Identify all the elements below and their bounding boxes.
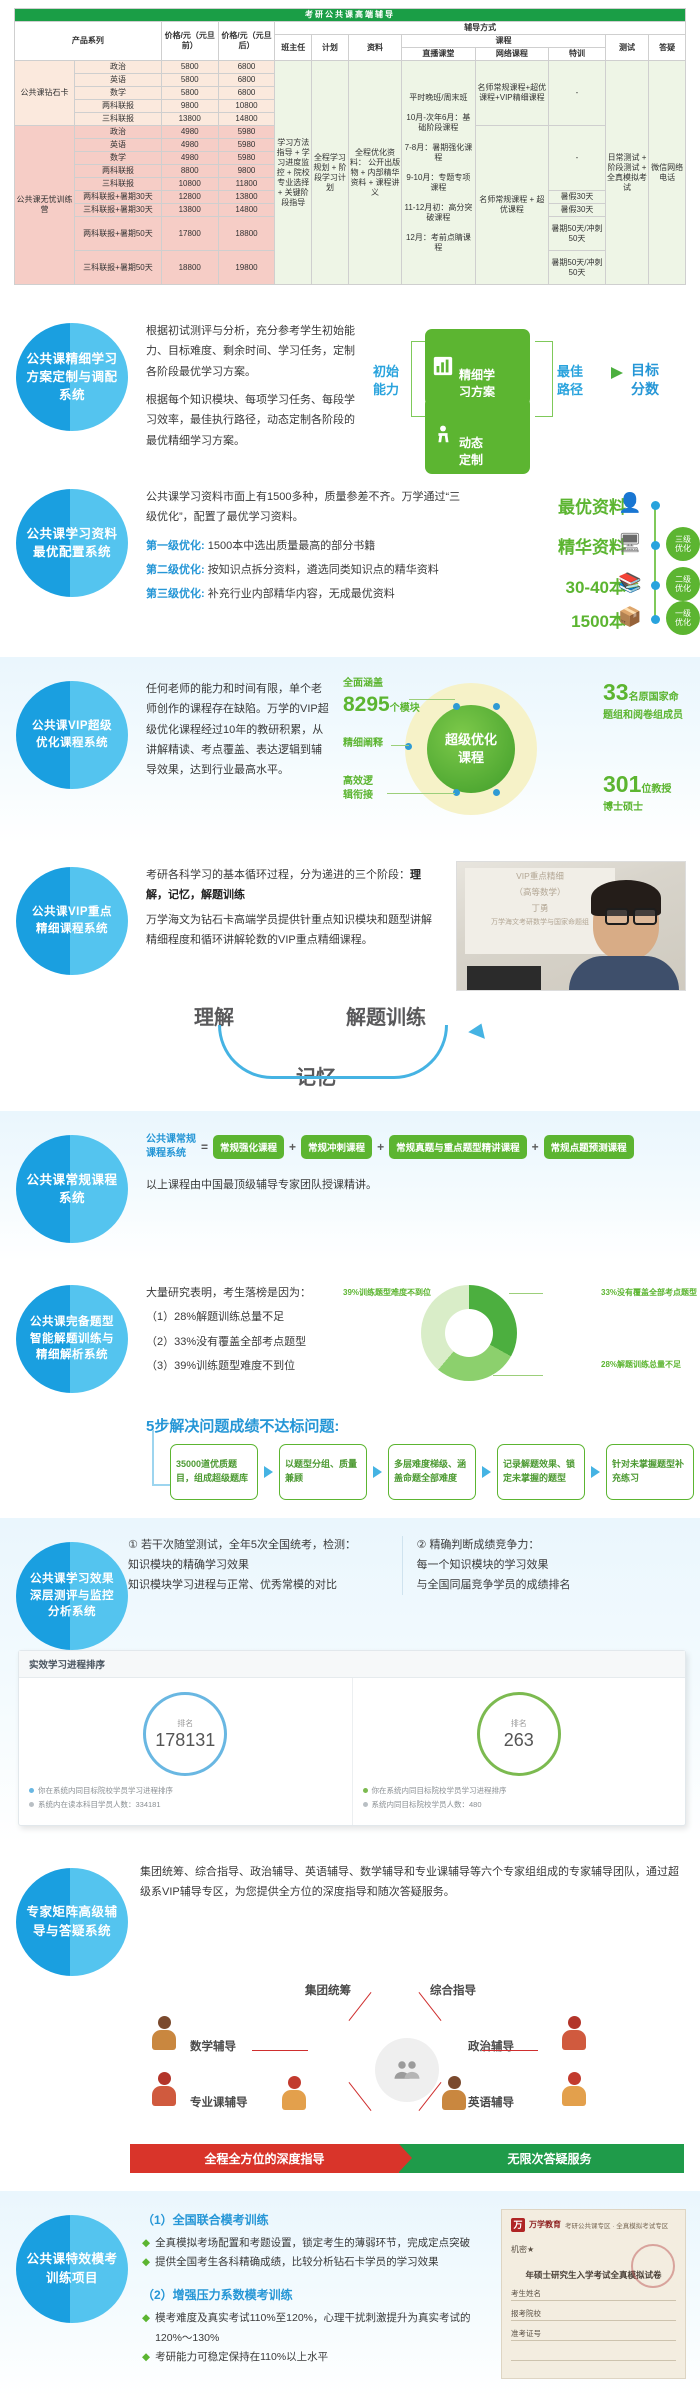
chart-icon (432, 339, 454, 361)
paper-brand: 万学教育 (529, 2219, 561, 2230)
section-badge-vip-super: 公共课VIP超级优化课程系统 (16, 681, 128, 789)
cell-item: 两科联报+暑期50天 (75, 217, 162, 251)
th-teacher: 班主任 (275, 35, 312, 61)
section-badge-mock-exam: 公共课特效模考训练项目 (16, 2215, 128, 2323)
cell-before: 4980 (161, 152, 218, 165)
th-test: 测试 (605, 35, 648, 61)
ring-examiner-unit: 名原国家命 (629, 692, 679, 703)
level-badge-1: 一级 优化 (666, 601, 700, 635)
team-label-group: 集团统筹 (305, 1982, 351, 1998)
cell-test: 日常测试 + 阶段测试 + 全真模拟考试 (605, 61, 648, 285)
cell-after: 5980 (218, 126, 275, 139)
cell-before: 13800 (161, 204, 218, 217)
bullet-icon-1: ◆ (142, 2234, 150, 2253)
mock-heading-2: （2）增强压力系数模考训练 (142, 2286, 491, 2303)
paper-field-school: 报考院校 (511, 2308, 676, 2321)
cell-after: 5980 (218, 139, 275, 152)
section-vip-super: 公共课VIP超级优化课程系统 任何老师的能力和时间有限，单个老师创作的课程存在缺… (0, 657, 700, 843)
vip-focus-paragraph-2: 万学海文为钻石卡高端学员提供针重点知识模块和题型讲解精细程度和循环讲解轮数的VI… (146, 910, 442, 951)
ring-modules-count: 8295 (343, 693, 390, 716)
cell-item: 三科联报+暑期30天 (75, 204, 162, 217)
cell-item: 两科联报+暑期30天 (75, 191, 162, 204)
cell-after: 10800 (218, 100, 275, 113)
materials-level-diagram: 最优资料 👤 精华资料 🖥 三级 优化 30-40本 📚 二级 优化 1500本… (485, 489, 700, 639)
cell-before: 17800 (161, 217, 218, 251)
th-material: 资料 (348, 35, 401, 61)
learning-cycle-diagram: 理解 解题训练 记忆 (160, 1001, 540, 1093)
flow-box2-label: 动态 定制 (459, 436, 483, 466)
dashboard-right-legend-2: 系统内同目标院校学员人数：480 (372, 1800, 482, 1809)
cell-before: 5800 (161, 87, 218, 100)
team-avatar-6 (560, 2072, 588, 2106)
group-a-name: 公共课钻石卡 (15, 61, 75, 126)
cell-material: 全程优化资料： 公开出版物 + 内部精华资料 + 课程讲义 (348, 61, 401, 285)
gauge-left-value: 178131 (155, 1730, 215, 1751)
level-dot-3 (651, 581, 660, 590)
effect-columns: ① 若干次随堂测试，全年5次全国统考，检测： 知识模块的精确学习效果 知识模块学… (128, 1536, 690, 1595)
regular-course-formula: 公共课常规 课程系统 = 常规强化课程 + 常规冲刺课程 + 常规真题与重点题型… (146, 1133, 690, 1161)
effect-col2-line3: 与全国同届竞争学员的成绩排名 (417, 1576, 679, 1596)
cell-special-30b: 暑假30天 (549, 204, 606, 217)
formula-lead: 公共课常规 课程系统 (146, 1133, 196, 1161)
mock-exam-paper: 万 万学教育 考研公共课专区 · 全真模拟考试专区 机密★ 年硕士研究生入学考试… (501, 2209, 686, 2379)
mock-bullet-4: 考研能力可稳定保持在110%以上水平 (155, 2348, 328, 2367)
effect-col1-line2: 知识模块的精确学习效果 (128, 1556, 390, 1576)
ring-modules-unit: 个模块 (390, 703, 420, 714)
legend-dot-gray-1 (29, 1802, 34, 1807)
training-intro: 大量研究表明，考生落榜是因为： (146, 1283, 329, 1303)
ring-center-label: 超级优化 课程 (427, 705, 515, 793)
cell-special-a: - (549, 61, 606, 126)
team-label-math: 数学辅导 (190, 2038, 236, 2054)
team-center-icon (375, 2038, 439, 2102)
dashboard-right-panel: 排名 263 你在系统内同目标院校学员学习进程排序 系统内同目标院校学员人数：4… (352, 1678, 686, 1825)
ring-examiner-count: 33 (603, 679, 629, 705)
cell-item: 英语 (75, 74, 162, 87)
photo-glasses-right (633, 908, 657, 925)
th-plan: 计划 (312, 35, 349, 61)
team-avatar-4 (440, 2076, 468, 2110)
photo-glasses-left (605, 908, 629, 925)
cell-after: 14800 (218, 204, 275, 217)
effect-col2-line1: 精确判断成绩竞争力： (429, 1539, 539, 1551)
steps-flow: 35000道优质题目，组成超级题库 以题型分组、质量兼顾 多层难度梯级、涵盖命题… (146, 1444, 700, 1500)
gauge-school-rank: 排名 263 (477, 1692, 561, 1776)
failure-reasons-donut-chart: 39%训练题型难度不到位 33%没有覆盖全部考点题型 28%解题训练总量不足 (343, 1279, 593, 1409)
gauge-right-value: 263 (504, 1730, 534, 1751)
section-vip-focus: 公共课VIP重点精细课程系统 考研各科学习的基本循环过程，分为递进的三个阶段：理… (0, 843, 700, 1111)
step-arrow-icon-1 (264, 1466, 273, 1478)
dashboard-left-legend-1: 你在系统内同目标院校学员学习进程排序 (38, 1786, 173, 1795)
mock-bullet-3: 模考难度及真实考试110%至120%，心理干扰刺激提升为真实考试的120%～13… (155, 2309, 491, 2348)
cell-special-50b: 暑期50天/冲刺50天 (549, 251, 606, 285)
gauge-left-label: 排名 (177, 1718, 193, 1729)
expert-team-diagram: 集团统筹 综合指导 数学辅导 政治辅导 专业课辅导 英语辅导 (130, 1976, 684, 2136)
step-3: 多层难度梯级、涵盖命题全部难度 (388, 1444, 476, 1500)
cell-item: 英语 (75, 139, 162, 152)
price-table-section: 考研公共课高端辅导 产品系列 价格/元（元旦前） 价格/元（元旦后） 辅导方式 … (0, 0, 700, 299)
th-price-before: 价格/元（元旦前） (161, 22, 218, 61)
table-row: 公共课钻石卡 政治 5800 6800 学习方法指导 + 学习进度监控 + 院校… (15, 61, 686, 74)
vip-focus-paragraph-1: 考研各科学习的基本循环过程，分为递进的三个阶段： (146, 869, 410, 881)
level-badge-2: 二级 优化 (666, 567, 700, 601)
gauge-national-rank: 排名 178131 (143, 1692, 227, 1776)
cell-item: 三科联报+暑期50天 (75, 251, 162, 285)
effect-col1-line1: 若干次随堂测试，全年5次全国统考，检测： (141, 1539, 356, 1551)
course-chip-1[interactable]: 常规强化课程 (213, 1135, 284, 1159)
steps-bracket (152, 1430, 170, 1486)
level-spine (654, 503, 656, 621)
flow-box1-label: 精细学 习方案 (459, 368, 495, 398)
level2-text: 按知识点拆分资料，遴选同类知识点的精华资料 (208, 564, 439, 576)
table-title: 考研公共课高端辅导 (15, 9, 686, 22)
training-reason-1: （1）28%解题训练总量不足 (146, 1307, 329, 1327)
level-text-1: 最优资料 (558, 493, 626, 518)
level-badge-3: 三级 优化 (666, 527, 700, 561)
course-chip-3[interactable]: 常规真题与重点题型精讲课程 (389, 1135, 527, 1159)
materials-paragraph-1: 公共课学习资料市面上有1500多种，质量参差不齐。万学通过“三级优化”，配置了最… (146, 487, 471, 528)
ring-label-logic: 高效逻 辑衔接 (343, 775, 373, 802)
course-chip-2[interactable]: 常规冲刺课程 (301, 1135, 372, 1159)
cell-before: 13800 (161, 113, 218, 126)
section-badge-expert-matrix: 专家矩阵高级辅导与答疑系统 (16, 1868, 128, 1976)
paper-field-ticket: 准考证号 (511, 2328, 676, 2341)
th-price-after: 价格/元（元旦后） (218, 22, 275, 61)
effect-col1-line3: 知识模块学习进程与正常、优秀常模的对比 (128, 1576, 390, 1596)
flow-mid-label: 最佳 路径 (557, 363, 583, 398)
monitor-icon: 🖥 (618, 531, 642, 555)
th-tutoring-method: 辅导方式 (275, 22, 686, 35)
cell-live: 平时晚班/周末班 10月-次年6月：基础阶段课程 7-8月：暑期强化课程 9-1… (402, 61, 475, 285)
ring-professor-count: 301 (603, 771, 641, 797)
paper-field-name: 考生姓名 (511, 2288, 676, 2301)
cell-after: 18800 (218, 217, 275, 251)
cell-plan: 全程学习规划 + 阶段学习计划 (312, 61, 349, 285)
team-avatar-2 (150, 2072, 178, 2106)
cell-item: 三科联报 (75, 113, 162, 126)
effect-col2-number: ② (417, 1539, 427, 1551)
donut-label-volume: 28%解题训练总量不足 (601, 1359, 700, 1371)
price-table: 考研公共课高端辅导 产品系列 价格/元（元旦前） 价格/元（元旦后） 辅导方式 … (14, 8, 686, 285)
level-dot-4 (651, 615, 660, 624)
level-dot-2 (651, 541, 660, 550)
cycle-arc (218, 1025, 448, 1079)
regular-course-note: 以上课程由中国最顶级辅导专家团队授课精讲。 (146, 1175, 690, 1195)
page-root: 考研公共课高端辅导 产品系列 价格/元（元旦前） 价格/元（元旦后） 辅导方式 … (0, 0, 700, 2397)
book-box-icon: 📚 (618, 571, 642, 595)
mock-bullet-1: 全真模拟考场配置和考题设置，锁定考生的薄弱环节，完成定点突破 (155, 2234, 470, 2253)
cell-item: 数学 (75, 152, 162, 165)
step-arrow-icon-4 (591, 1466, 600, 1478)
cell-before: 4980 (161, 139, 218, 152)
cell-before: 8800 (161, 165, 218, 178)
section-badge-problem-training: 公共课完备题型智能解题训练与精细解析系统 (16, 1285, 128, 1393)
vip-super-paragraph: 任何老师的能力和时间有限，单个老师创作的课程存在缺陷。万学的VIP超级优化课程经… (146, 679, 329, 781)
plus-icon-1: + (289, 1140, 296, 1154)
team-label-politics: 政治辅导 (468, 2038, 514, 2054)
legend-dot-gray-2 (363, 1802, 368, 1807)
teacher-photo: VIP重点精细 （高等数学） 丁勇 万学海文考研数学与国家命题组 (456, 861, 686, 991)
cell-before: 4980 (161, 126, 218, 139)
gauge-right-label: 排名 (511, 1718, 527, 1729)
cell-qa: 微信网络电话 (649, 61, 686, 285)
plus-icon-3: + (532, 1140, 539, 1154)
cycle-arrow-icon (468, 1020, 490, 1039)
section-badge-vip-focus: 公共课VIP重点精细课程系统 (16, 867, 128, 975)
donut-ring (421, 1285, 517, 1381)
step-arrow-icon-3 (482, 1466, 491, 1478)
th-online: 网络课程 (475, 48, 548, 61)
study-plan-paragraph-2: 根据每个知识模块、每项学习任务、每段学习效率，最佳执行路径，动态定制各阶段的最优… (146, 390, 359, 451)
level2-label: 第二级优化: (146, 564, 205, 576)
cell-after: 6800 (218, 87, 275, 100)
plus-icon-2: + (377, 1140, 384, 1154)
step-2: 以题型分组、质量兼顾 (279, 1444, 367, 1500)
paper-seal-icon (631, 2244, 675, 2288)
person-run-icon (432, 407, 454, 429)
board-line-1: VIP重点精细 (465, 868, 615, 884)
ring-label-detail: 精细阐释 (343, 737, 383, 751)
step-1: 35000道优质题目，组成超级题库 (170, 1444, 258, 1500)
section-regular-courses: 公共课常规课程系统 公共课常规 课程系统 = 常规强化课程 + 常规冲刺课程 +… (0, 1111, 700, 1261)
th-live: 直播课堂 (402, 48, 475, 61)
cell-before: 5800 (161, 61, 218, 74)
ring-dot-1 (453, 703, 460, 710)
ring-dot-5 (493, 789, 500, 796)
flow-start-label: 初始 能力 (373, 363, 399, 398)
dashboard-header: 实效学习进程排序 (19, 1651, 685, 1678)
section-badge-regular: 公共课常规课程系统 (16, 1135, 128, 1243)
mock-bullet-2: 提供全国考生各科精确成绩，比较分析钻石卡学员的学习效果 (155, 2253, 439, 2272)
level-dot-1 (651, 501, 660, 510)
banner-left-label: 全程全方位的深度指导 (130, 2144, 399, 2173)
cell-after: 5980 (218, 152, 275, 165)
cell-after: 13800 (218, 191, 275, 204)
cell-after: 9800 (218, 165, 275, 178)
course-chip-4[interactable]: 常规点题预测课程 (544, 1135, 634, 1159)
section-badge-materials: 公共课学习资料最优配置系统 (16, 489, 128, 597)
section-problem-training: 公共课完备题型智能解题训练与精细解析系统 大量研究表明，考生落榜是因为： （1）… (0, 1261, 700, 1518)
effect-col1-number: ① (128, 1539, 138, 1551)
vip-super-ring-diagram: 超级优化 课程 全面涵盖 8295个模块 精细阐释 高效逻 辑衔接 (343, 675, 603, 825)
cell-online-b: 名师常规课程 + 超优课程 (475, 126, 548, 285)
team-avatar-3 (280, 2076, 308, 2110)
cell-before: 12800 (161, 191, 218, 204)
expert-matrix-paragraph: 集团统筹、综合指导、政治辅导、英语辅导、数学辅导和专业课辅导等六个专家组组成的专… (140, 1862, 684, 1903)
steps-title: 5步解决问题成绩不达标问题: (146, 1415, 700, 1436)
dashboard-left-panel: 排名 178131 你在系统内同目标院校学员学习进程排序 系统内在读本科目学员人… (19, 1678, 352, 1825)
th-course: 课程 (402, 35, 606, 48)
flow-end-label: 目标 分数 (631, 361, 693, 399)
cell-online-a: 名师常规课程+超优课程+VIP精细课程 (475, 61, 548, 126)
ring-professor-unit: 位教授 (641, 784, 671, 795)
paper-brand-sub: 考研公共课专区 · 全真模拟考试专区 (565, 2220, 668, 2230)
level-text-3: 30-40本 (566, 573, 626, 598)
section-expert-matrix: 专家矩阵高级辅导与答疑系统 集团统筹、综合指导、政治辅导、英语辅导、数学辅导和专… (0, 1844, 700, 2191)
effect-col2-line2: 每一个知识模块的学习效果 (417, 1556, 679, 1576)
person-plus-icon: 👤 (618, 491, 642, 515)
mock-heading-1: （1）全国联合模考训练 (142, 2211, 491, 2228)
th-product-series: 产品系列 (15, 22, 162, 61)
section-study-plan: 公共课精细学习方案定制与调配系统 根据初试测评与分析，充分参考学生初始能力、目标… (0, 299, 700, 477)
cell-teacher: 学习方法指导 + 学习进度监控 + 院校专业选择 + 关键阶段指导 (275, 61, 312, 285)
bullet-icon-3: ◆ (142, 2309, 150, 2348)
legend-dot-green (363, 1788, 368, 1793)
legend-dot-blue (29, 1788, 34, 1793)
flow-box-detailed-plan: 精细学 习方案 (425, 329, 530, 406)
section-mock-exam: 公共课特效模考训练项目 （1）全国联合模考训练 ◆全真模拟考场配置和考题设置，锁… (0, 2191, 700, 2397)
step-4: 记录解题效果、锁定未掌握的题型 (497, 1444, 585, 1500)
cell-after: 14800 (218, 113, 275, 126)
paper-field-blank-1 (511, 2348, 676, 2361)
donut-label-coverage: 33%没有覆盖全部考点题型 (601, 1287, 700, 1299)
ring-professor-sub: 博士硕士 (603, 798, 671, 813)
dashboard-left-legend-2: 系统内在读本科目学员人数：334181 (38, 1800, 161, 1809)
study-plan-flow-diagram: 初始 能力 精细学 习方案 动态 定制 最佳 路径 (373, 327, 623, 447)
section-badge-effect-analysis: 公共课学习效果深层测评与监控分析系统 (16, 1542, 128, 1650)
flow-box-dynamic: 动态 定制 (425, 397, 530, 474)
people-group-icon (392, 2055, 422, 2085)
cell-special-b: - (549, 126, 606, 191)
cell-before: 9800 (161, 100, 218, 113)
section-badge-study-plan: 公共课精细学习方案定制与调配系统 (16, 323, 128, 431)
cell-before: 10800 (161, 178, 218, 191)
effect-col-1: ① 若干次随堂测试，全年5次全国统考，检测： 知识模块的精确学习效果 知识模块学… (128, 1536, 402, 1595)
box-icon: 📦 (618, 605, 642, 629)
cell-after: 6800 (218, 74, 275, 87)
section-effect-analysis: 公共课学习效果深层测评与监控分析系统 ① 若干次随堂测试，全年5次全国统考，检测… (0, 1518, 700, 1844)
ring-label-coverage: 全面涵盖 (343, 678, 383, 689)
cell-special-30: 暑假30天 (549, 191, 606, 204)
ring-dot-4 (493, 703, 500, 710)
level3-text: 补充行业内部精华内容，无成最优资料 (208, 588, 395, 600)
bullet-icon-4: ◆ (142, 2348, 150, 2367)
dashboard-right-legend-1: 你在系统内同目标院校学员学习进程排序 (372, 1786, 507, 1795)
cell-before: 18800 (161, 251, 218, 285)
cell-item: 两科联报 (75, 165, 162, 178)
cell-after: 19800 (218, 251, 275, 285)
team-label-english: 英语辅导 (468, 2094, 514, 2110)
cell-after: 11800 (218, 178, 275, 191)
cell-item: 政治 (75, 61, 162, 74)
team-label-comprehensive: 综合指导 (430, 1982, 476, 1998)
ring-examiner-sub: 题组和阅卷组成员 (603, 706, 683, 721)
photo-body (569, 956, 679, 990)
step-5: 针对未掌握题型补充练习 (606, 1444, 694, 1500)
level1-text: 1500本中选出质量最高的部分书籍 (208, 540, 375, 552)
training-reason-2: （2）33%没有覆盖全部考点题型 (146, 1332, 329, 1352)
banner-right-label: 无限次答疑服务 (399, 2144, 684, 2173)
th-qa: 答疑 (649, 35, 686, 61)
level3-label: 第三级优化: (146, 588, 205, 600)
team-avatar-1 (150, 2016, 178, 2050)
level-text-2: 精华资料 (558, 533, 626, 558)
cell-before: 5800 (161, 74, 218, 87)
formula-equals: = (201, 1140, 208, 1154)
photo-laptop (467, 966, 541, 990)
step-arrow-icon-2 (373, 1466, 382, 1478)
group-b-name: 公共课无忧训练营 (15, 126, 75, 285)
flow-arrow-icon (611, 367, 623, 379)
effect-col-2: ② 精确判断成绩竞争力： 每一个知识模块的学习效果 与全国同届竞争学员的成绩排名 (402, 1536, 691, 1595)
team-avatar-5 (560, 2016, 588, 2050)
cell-item: 三科联报 (75, 178, 162, 191)
study-plan-paragraph-1: 根据初试测评与分析，充分参考学生初始能力、目标难度、剩余时间、学习任务，定制各阶… (146, 321, 359, 382)
brand-logo-icon: 万 (511, 2218, 525, 2232)
training-reason-3: （3）39%训练题型难度不到位 (146, 1356, 329, 1376)
cell-item: 政治 (75, 126, 162, 139)
section-materials: 公共课学习资料最优配置系统 公共课学习资料市面上有1500多种，质量参差不齐。万… (0, 477, 700, 657)
ranking-dashboard: 实效学习进程排序 排名 178131 你在系统内同目标院校学员学习进程排序 系统… (18, 1650, 686, 1826)
cell-after: 6800 (218, 61, 275, 74)
level1-label: 第一级优化: (146, 540, 205, 552)
cell-item: 数学 (75, 87, 162, 100)
th-special: 特训 (549, 48, 606, 61)
cell-special-50: 暑期50天/冲刺50天 (549, 217, 606, 251)
team-label-major: 专业课辅导 (190, 2094, 248, 2110)
bullet-icon-2: ◆ (142, 2253, 150, 2272)
service-banner: 全程全方位的深度指导 无限次答疑服务 (130, 2144, 684, 2173)
cell-item: 两科联报 (75, 100, 162, 113)
